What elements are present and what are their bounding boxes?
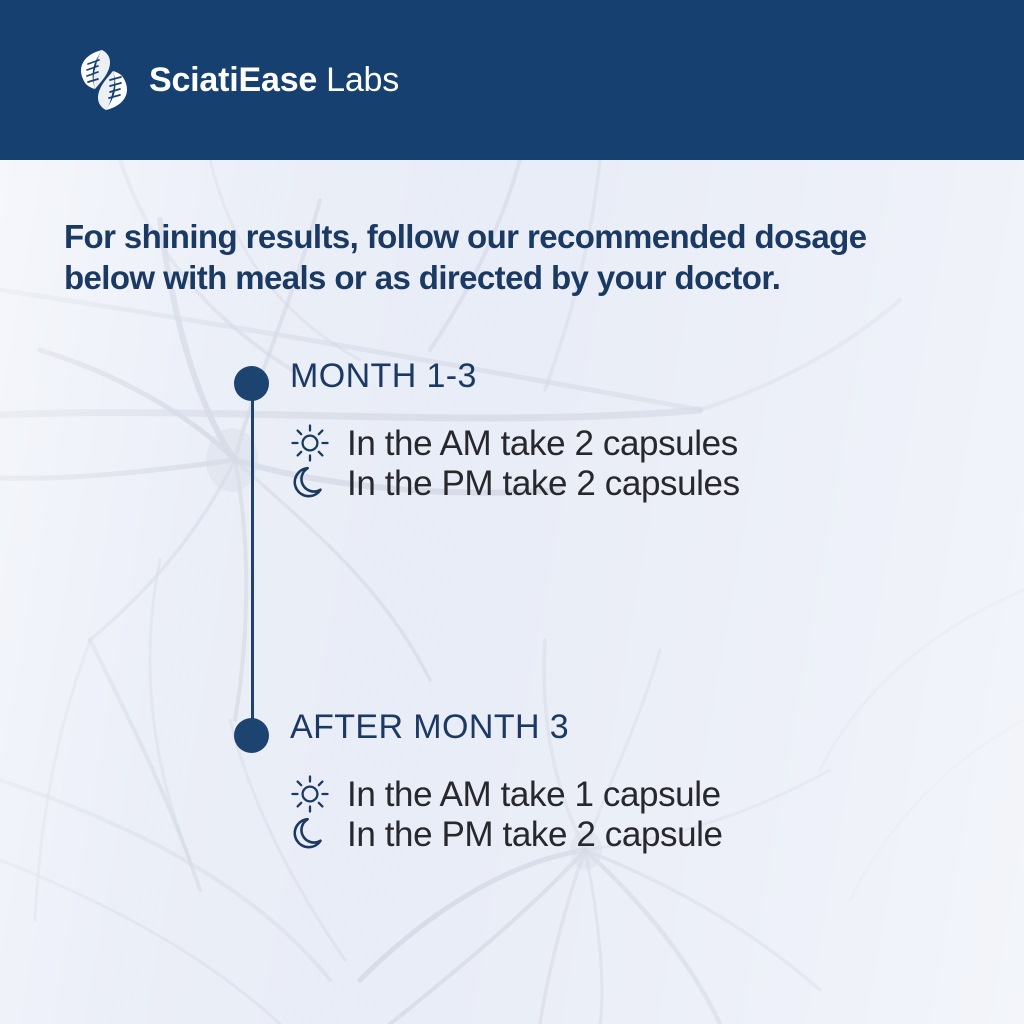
dose-row-am: In the AM take 1 capsule xyxy=(290,774,723,814)
moon-icon xyxy=(290,463,330,503)
dose-label: In the AM take 2 capsules xyxy=(347,426,738,461)
brand-logo[interactable]: SciatiEaseLabs xyxy=(75,49,399,111)
sun-icon xyxy=(290,774,330,814)
dose-label: In the PM take 2 capsules xyxy=(347,466,740,501)
brand-header: SciatiEaseLabs xyxy=(0,0,1024,160)
dosage-block-title: MONTH 1-3 xyxy=(290,358,740,395)
brand-name-primary: SciatiEase xyxy=(149,61,317,99)
brand-name-suffix: Labs xyxy=(326,61,399,99)
timeline-dot-icon xyxy=(234,718,269,753)
sun-icon xyxy=(290,423,330,463)
dose-row-pm: In the PM take 2 capsules xyxy=(290,463,740,503)
dosage-block-month-1-3: MONTH 1-3 In the AM take 2 xyxy=(290,358,740,503)
dosage-block-title: AFTER MONTH 3 xyxy=(290,709,723,746)
main-content: For shining results, follow our recommen… xyxy=(0,160,1024,1024)
timeline-dot-icon xyxy=(234,366,269,401)
dosage-instruction-poster: SciatiEaseLabs For shining results, foll… xyxy=(0,0,1024,1024)
brand-name: SciatiEaseLabs xyxy=(149,63,399,97)
dna-helix-icon xyxy=(75,49,133,111)
dosage-block-after-month-3: AFTER MONTH 3 In the AM tak xyxy=(290,709,723,854)
dose-label: In the AM take 1 capsule xyxy=(347,777,721,812)
page-headline: For shining results, follow our recommen… xyxy=(64,217,954,299)
timeline-line-icon xyxy=(251,385,254,737)
dose-row-pm: In the PM take 2 capsule xyxy=(290,814,723,854)
dose-label: In the PM take 2 capsule xyxy=(347,817,723,852)
moon-icon xyxy=(290,814,330,854)
dose-row-am: In the AM take 2 capsules xyxy=(290,423,740,463)
